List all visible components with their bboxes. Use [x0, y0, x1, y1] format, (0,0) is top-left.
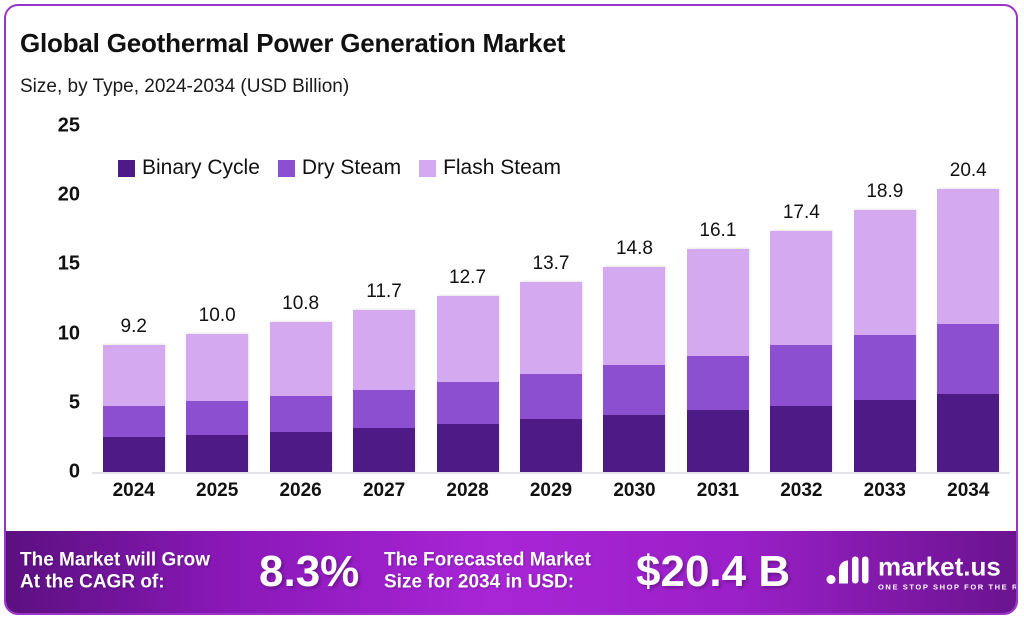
logo-tagline: ONE STOP SHOP FOR THE REPORTS [878, 582, 1018, 591]
x-axis-label: 2028 [446, 480, 488, 502]
forecast-size-label-line2: Size for 2034 in USD: [384, 572, 591, 594]
bar-segment-flash-steam[interactable] [186, 334, 248, 402]
y-axis-tick: 20 [20, 184, 80, 207]
bar-segment-dry-steam[interactable] [937, 324, 999, 395]
cagr-label-line2: At the CAGR of: [20, 572, 210, 594]
legend-swatch-icon [419, 160, 436, 177]
bar-segment-dry-steam[interactable] [687, 356, 749, 410]
chart-card: Global Geothermal Power Generation Marke… [4, 4, 1018, 615]
market-us-logo[interactable]: market.us ONE STOP SHOP FOR THE REPORTS [824, 553, 1018, 592]
y-axis-tick: 25 [20, 114, 80, 137]
bar-chart-logo-icon [824, 553, 870, 592]
stacked-bar[interactable] [687, 249, 749, 472]
legend-item[interactable]: Binary Cycle [118, 156, 260, 180]
bar-value-label: 10.8 [282, 293, 319, 315]
bar-value-label: 11.7 [366, 281, 402, 303]
legend-label: Binary Cycle [142, 156, 260, 180]
bar-value-label: 9.2 [121, 316, 147, 338]
bar-segment-binary-cycle[interactable] [270, 432, 332, 472]
x-axis-label: 2029 [530, 480, 572, 502]
x-axis-label: 2030 [613, 480, 655, 502]
bar-segment-binary-cycle[interactable] [353, 428, 415, 472]
chart-legend: Binary CycleDry SteamFlash Steam [118, 156, 572, 180]
bar-segment-dry-steam[interactable] [186, 401, 248, 434]
legend-item[interactable]: Dry Steam [278, 156, 401, 180]
bar-segment-flash-steam[interactable] [353, 310, 415, 390]
stacked-bar[interactable] [353, 310, 415, 472]
stacked-bar[interactable] [103, 345, 165, 472]
legend-item[interactable]: Flash Steam [419, 156, 561, 180]
bar-segment-dry-steam[interactable] [437, 382, 499, 424]
stacked-bar[interactable] [520, 282, 582, 472]
forecast-size-label-line1: The Forecasted Market [384, 550, 591, 572]
cagr-label: The Market will Grow At the CAGR of: [20, 550, 210, 595]
bar-value-label: 20.4 [950, 160, 987, 182]
bar-column[interactable]: 18.92033 [854, 110, 916, 522]
bar-segment-binary-cycle[interactable] [437, 424, 499, 472]
y-axis-tick: 5 [20, 391, 80, 414]
bar-segment-dry-steam[interactable] [520, 374, 582, 420]
page-title: Global Geothermal Power Generation Marke… [20, 28, 565, 59]
cagr-value: 8.3% [259, 547, 359, 597]
bar-segment-binary-cycle[interactable] [854, 400, 916, 472]
stacked-bar[interactable] [937, 189, 999, 472]
bar-value-label: 13.7 [533, 253, 570, 275]
stacked-bar[interactable] [186, 334, 248, 473]
bar-column[interactable]: 17.42032 [770, 110, 832, 522]
bar-segment-flash-steam[interactable] [103, 345, 165, 406]
stacked-bar[interactable] [770, 231, 832, 472]
bar-value-label: 10.0 [199, 305, 236, 327]
bar-segment-dry-steam[interactable] [854, 335, 916, 400]
bar-segment-flash-steam[interactable] [687, 249, 749, 356]
x-axis-label: 2031 [697, 480, 739, 502]
page-subtitle: Size, by Type, 2024-2034 (USD Billion) [20, 76, 349, 98]
x-axis-label: 2027 [363, 480, 405, 502]
bar-value-label: 16.1 [699, 220, 736, 242]
logo-text: market.us ONE STOP SHOP FOR THE REPORTS [878, 553, 1018, 591]
legend-label: Flash Steam [443, 156, 561, 180]
x-axis-label: 2026 [279, 480, 321, 502]
bar-value-label: 18.9 [866, 181, 903, 203]
bar-segment-dry-steam[interactable] [270, 396, 332, 432]
bar-segment-flash-steam[interactable] [603, 267, 665, 365]
x-axis-label: 2032 [780, 480, 822, 502]
bar-segment-binary-cycle[interactable] [186, 435, 248, 472]
stacked-bar[interactable] [437, 296, 499, 472]
bar-segment-flash-steam[interactable] [437, 296, 499, 382]
bar-segment-flash-steam[interactable] [770, 231, 832, 345]
bar-segment-binary-cycle[interactable] [603, 415, 665, 472]
forecast-size-value: $20.4 B [636, 547, 790, 597]
stacked-bar[interactable] [854, 210, 916, 472]
bar-segment-flash-steam[interactable] [520, 282, 582, 373]
bar-segment-binary-cycle[interactable] [687, 410, 749, 472]
x-axis-label: 2025 [196, 480, 238, 502]
bar-segment-flash-steam[interactable] [270, 322, 332, 395]
bar-segment-flash-steam[interactable] [937, 189, 999, 323]
bar-segment-flash-steam[interactable] [854, 210, 916, 335]
y-axis-tick: 0 [20, 461, 80, 484]
bar-value-label: 17.4 [783, 202, 820, 224]
bar-value-label: 14.8 [616, 238, 653, 260]
legend-label: Dry Steam [302, 156, 401, 180]
x-axis-label: 2034 [947, 480, 989, 502]
footer-banner: The Market will Grow At the CAGR of: 8.3… [6, 531, 1016, 613]
legend-swatch-icon [118, 160, 135, 177]
forecast-size-label: The Forecasted Market Size for 2034 in U… [384, 550, 591, 595]
bar-segment-binary-cycle[interactable] [520, 419, 582, 472]
stacked-bar[interactable] [603, 267, 665, 472]
bar-segment-dry-steam[interactable] [603, 365, 665, 415]
cagr-label-line1: The Market will Grow [20, 550, 210, 572]
logo-name: market.us [878, 553, 1018, 579]
bar-column[interactable]: 16.12031 [687, 110, 749, 522]
bar-segment-binary-cycle[interactable] [103, 437, 165, 472]
x-axis-label: 2024 [113, 480, 155, 502]
y-axis-tick: 10 [20, 322, 80, 345]
bar-segment-dry-steam[interactable] [353, 390, 415, 427]
y-axis-tick: 15 [20, 253, 80, 276]
bar-column[interactable]: 20.42034 [937, 110, 999, 522]
bar-column[interactable]: 14.82030 [603, 110, 665, 522]
legend-swatch-icon [278, 160, 295, 177]
bar-segment-dry-steam[interactable] [103, 406, 165, 438]
bar-segment-binary-cycle[interactable] [937, 394, 999, 472]
bar-segment-dry-steam[interactable] [770, 345, 832, 406]
bar-value-label: 12.7 [449, 267, 486, 289]
bar-segment-binary-cycle[interactable] [770, 406, 832, 472]
stacked-bar[interactable] [270, 322, 332, 472]
x-axis-label: 2033 [864, 480, 906, 502]
